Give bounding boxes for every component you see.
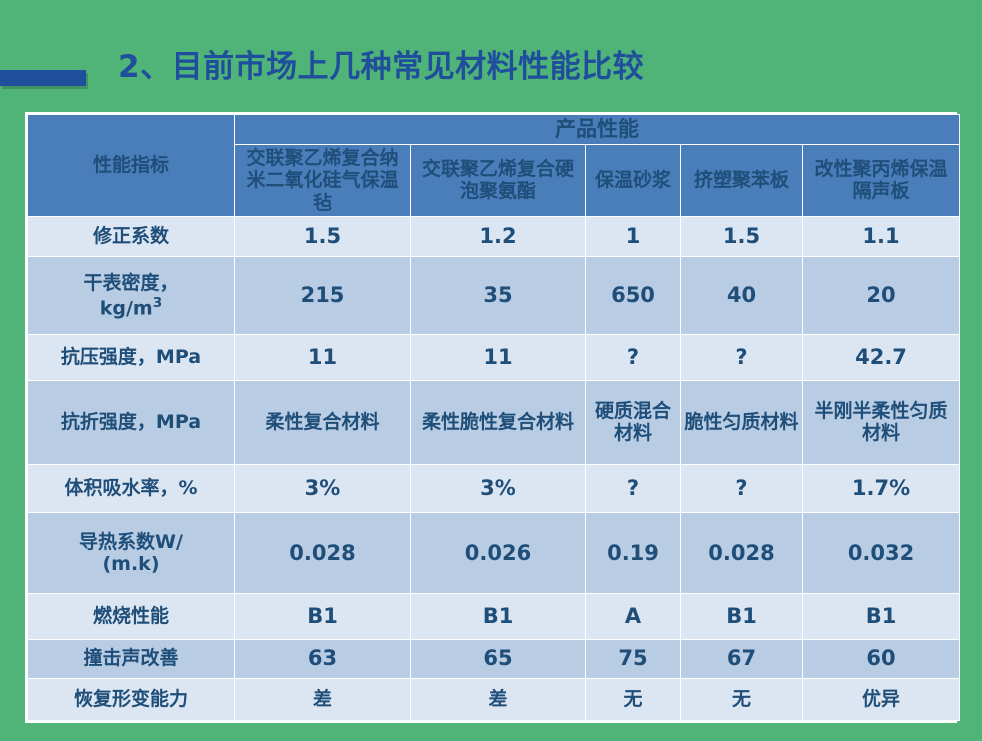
value-cell: 1.7% [803,465,960,513]
table-row: 修正系数1.51.211.51.1 [28,216,960,256]
value-cell: 20 [803,257,960,335]
value-cell: 0.19 [586,512,681,593]
title-accent-bar [0,70,86,86]
table-row: 恢复形变能力差差无无优异 [28,678,960,720]
value-cell: B1 [803,594,960,639]
value-cell: 优异 [803,678,960,720]
value-cell: 差 [235,678,411,720]
column-header-0: 交联聚乙烯复合纳米二氧化硅气保温毡 [235,144,411,216]
metric-line-2: kg/m3 [31,295,231,320]
value-cell: 柔性脆性复合材料 [411,380,586,465]
value-cell: 脆性匀质材料 [681,380,803,465]
value-cell: ? [681,335,803,380]
table-row: 抗折强度，MPa柔性复合材料柔性脆性复合材料硬质混合材料脆性匀质材料半刚半柔性匀… [28,380,960,465]
metric-cell: 体积吸水率，% [28,465,235,513]
metric-cell: 导热系数W/(m.k) [28,512,235,593]
column-header-3: 挤塑聚苯板 [681,144,803,216]
metric-line-1: 导热系数W/ [31,531,231,553]
group-header-cell: 产品性能 [235,115,960,145]
metric-header-cell: 性能指标 [28,115,235,217]
metric-cell: 撞击声改善 [28,639,235,678]
value-cell: 1.2 [411,216,586,256]
value-cell: ? [586,335,681,380]
table-row: 撞击声改善6365756760 [28,639,960,678]
perf-table: 性能指标 产品性能 交联聚乙烯复合纳米二氧化硅气保温毡 交联聚乙烯复合硬泡聚氨酯… [27,114,960,721]
value-cell: 差 [411,678,586,720]
table-row: 体积吸水率，%3%3%??1.7% [28,465,960,513]
value-cell: 75 [586,639,681,678]
metric-cell: 燃烧性能 [28,594,235,639]
metric-cell: 抗折强度，MPa [28,380,235,465]
metric-cell: 干表密度，kg/m3 [28,257,235,335]
column-header-1: 交联聚乙烯复合硬泡聚氨酯 [411,144,586,216]
value-cell: 11 [235,335,411,380]
value-cell: 1 [586,216,681,256]
value-cell: 1.1 [803,216,960,256]
value-cell: 215 [235,257,411,335]
value-cell: B1 [235,594,411,639]
table-row: 干表密度，kg/m3215356504020 [28,257,960,335]
value-cell: 0.026 [411,512,586,593]
value-cell: 柔性复合材料 [235,380,411,465]
value-cell: B1 [681,594,803,639]
page-title: 2、目前市场上几种常见材料性能比较 [118,48,644,87]
value-cell: 40 [681,257,803,335]
column-header-4: 改性聚丙烯保温隔声板 [803,144,960,216]
table-row: 导热系数W/(m.k)0.0280.0260.190.0280.032 [28,512,960,593]
column-header-2: 保温砂浆 [586,144,681,216]
metric-line-2: (m.k) [31,553,231,575]
value-cell: 0.028 [681,512,803,593]
table-group-header-row: 性能指标 产品性能 [28,115,960,145]
value-cell: 42.7 [803,335,960,380]
table-row: 抗压强度，MPa1111??42.7 [28,335,960,380]
value-cell: 0.028 [235,512,411,593]
value-cell: 65 [411,639,586,678]
value-cell: 60 [803,639,960,678]
metric-line-1: 干表密度， [31,272,231,294]
value-cell: 35 [411,257,586,335]
value-cell: 650 [586,257,681,335]
metric-cell: 恢复形变能力 [28,678,235,720]
value-cell: 硬质混合材料 [586,380,681,465]
value-cell: 67 [681,639,803,678]
value-cell: B1 [411,594,586,639]
material-comparison-table: 性能指标 产品性能 交联聚乙烯复合纳米二氧化硅气保温毡 交联聚乙烯复合硬泡聚氨酯… [25,112,957,723]
value-cell: A [586,594,681,639]
value-cell: ? [681,465,803,513]
value-cell: 无 [681,678,803,720]
value-cell: 63 [235,639,411,678]
value-cell: ? [586,465,681,513]
value-cell: 3% [235,465,411,513]
metric-cell: 修正系数 [28,216,235,256]
value-cell: 3% [411,465,586,513]
value-cell: 11 [411,335,586,380]
value-cell: 无 [586,678,681,720]
table-body: 修正系数1.51.211.51.1干表密度，kg/m3215356504020抗… [28,216,960,720]
value-cell: 1.5 [235,216,411,256]
table-head: 性能指标 产品性能 交联聚乙烯复合纳米二氧化硅气保温毡 交联聚乙烯复合硬泡聚氨酯… [28,115,960,217]
value-cell: 半刚半柔性匀质材料 [803,380,960,465]
value-cell: 0.032 [803,512,960,593]
metric-cell: 抗压强度，MPa [28,335,235,380]
table-row: 燃烧性能B1B1AB1B1 [28,594,960,639]
value-cell: 1.5 [681,216,803,256]
